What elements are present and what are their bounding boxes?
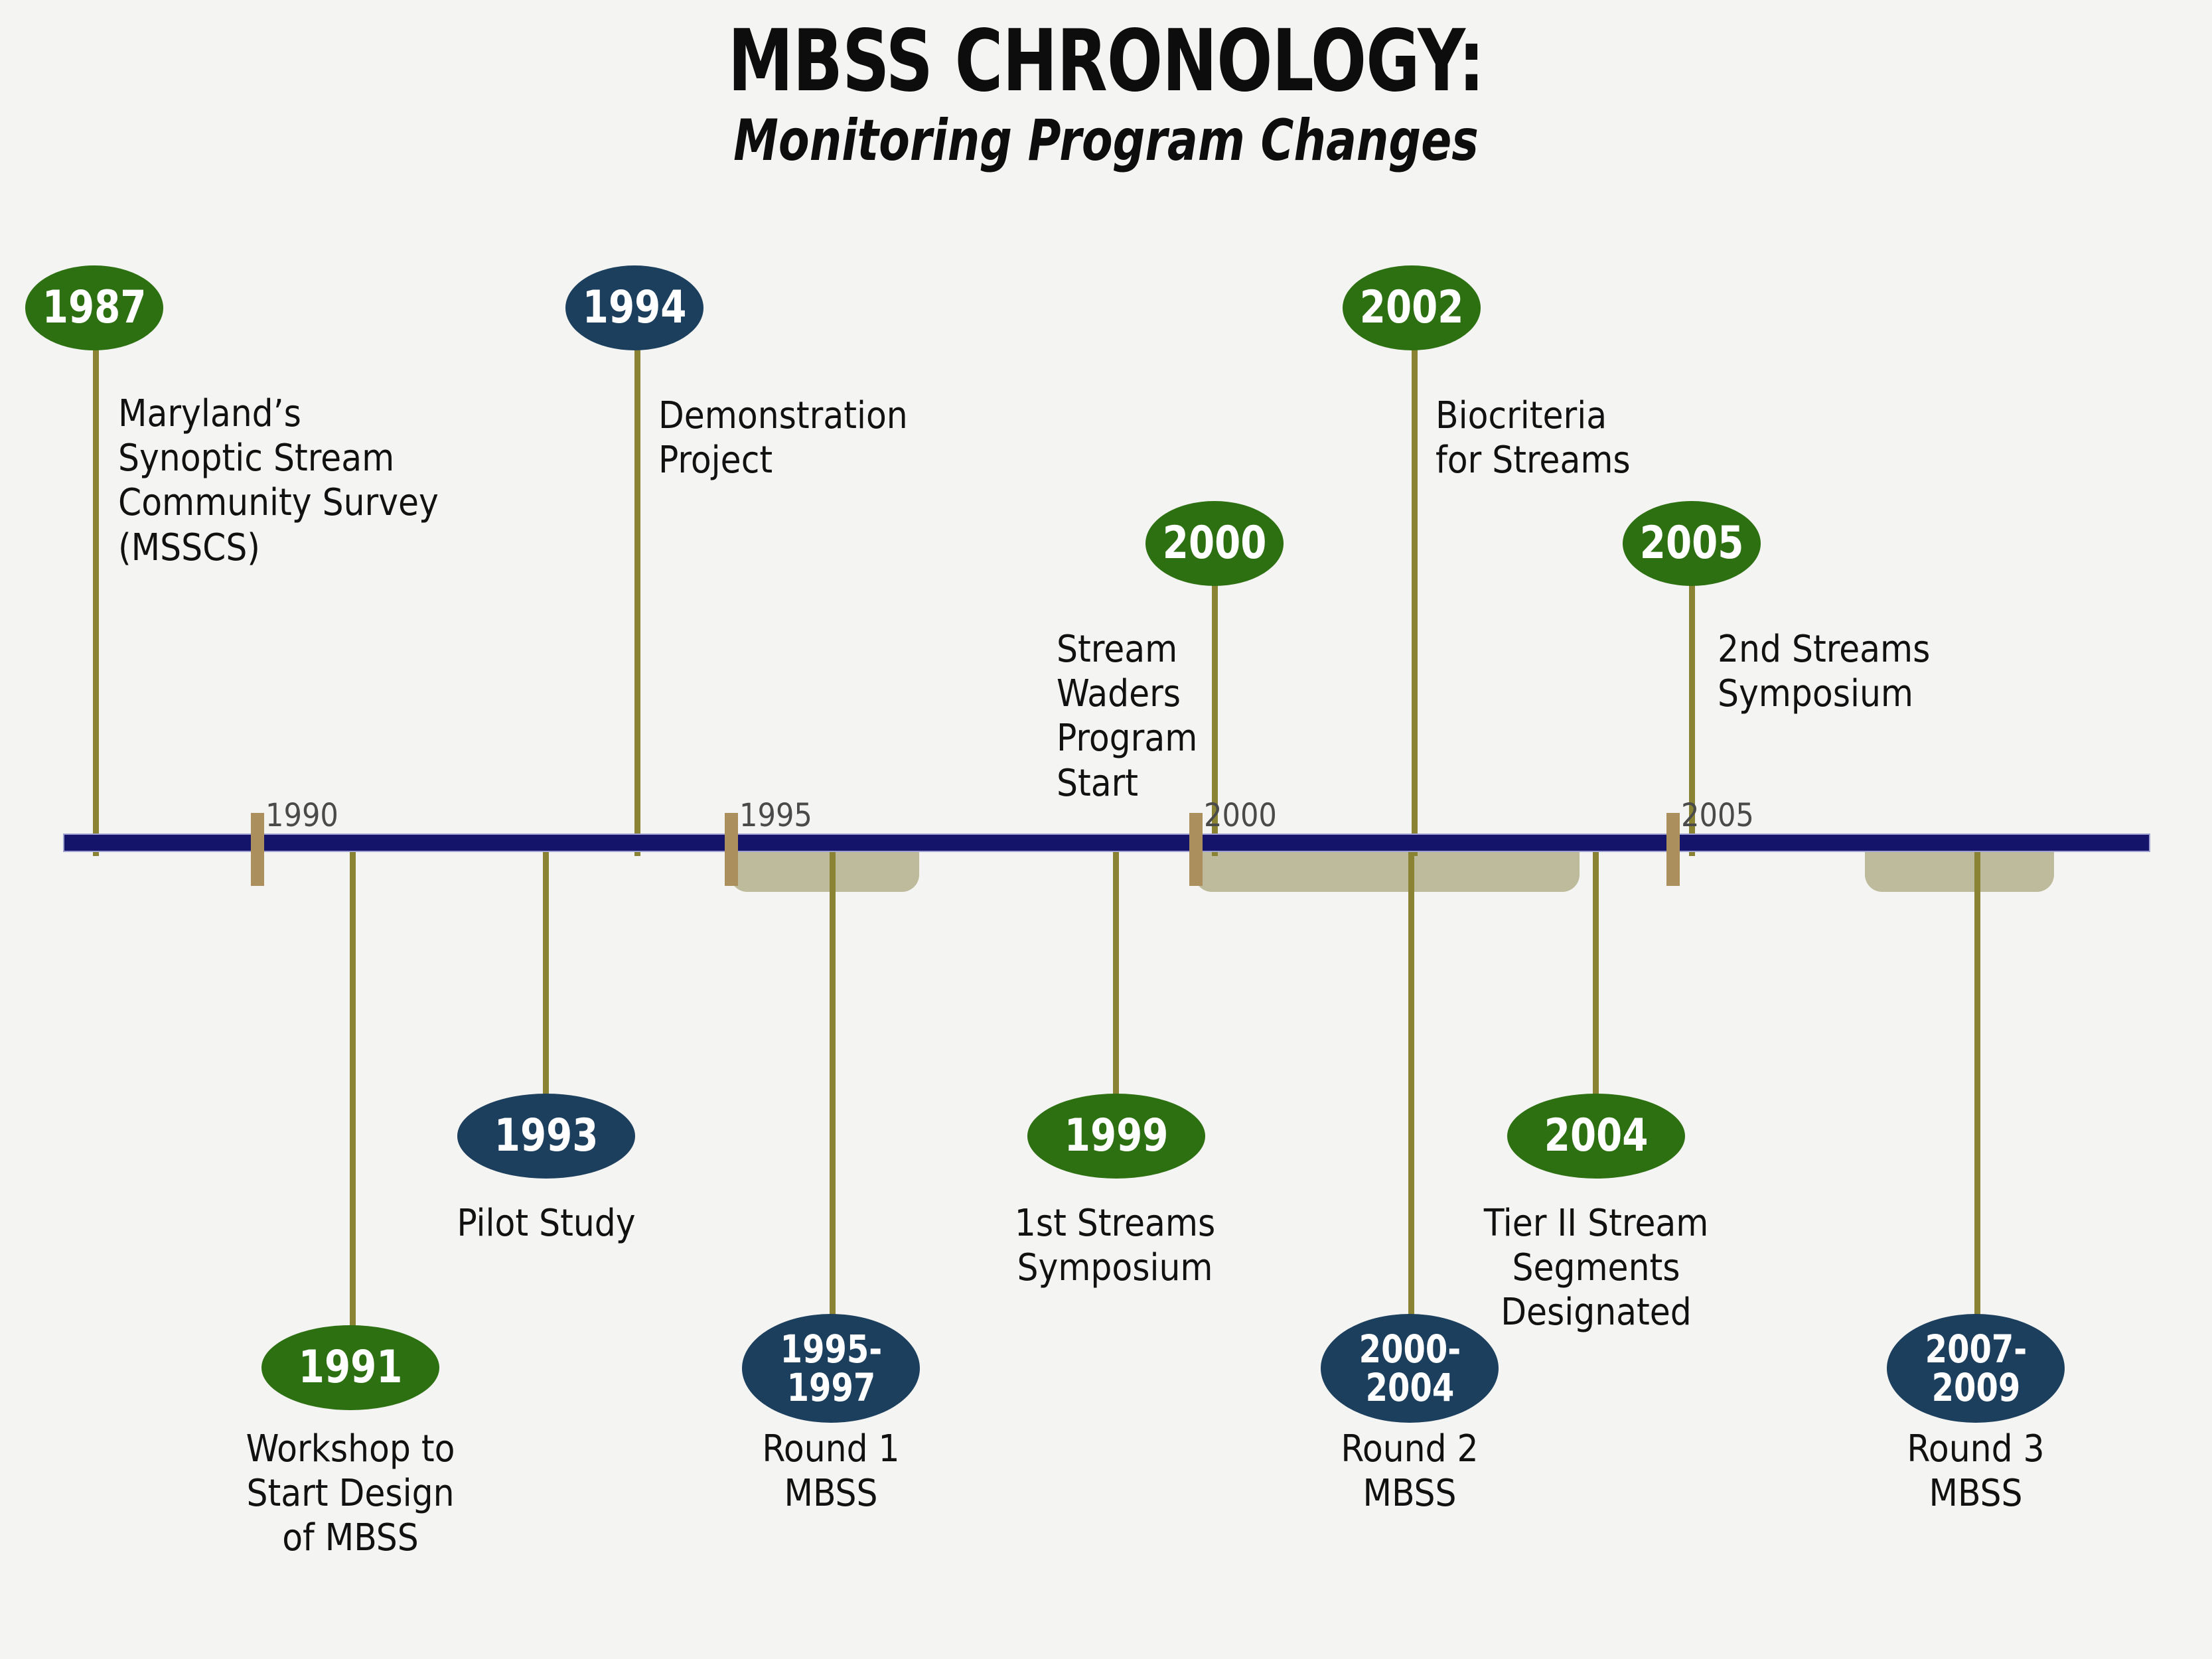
- event-node-1987[interactable]: 1987: [25, 265, 163, 350]
- event-node-1994[interactable]: 1994: [565, 265, 703, 350]
- stem-1994: [634, 332, 640, 856]
- event-node-2000[interactable]: 2000: [1145, 501, 1284, 586]
- event-caption-2000-2004: Round 2 MBSS: [1257, 1427, 1562, 1516]
- header: MBSS CHRONOLOGY: Monitoring Program Chan…: [0, 19, 2212, 172]
- stem-2000-2004: [1408, 833, 1414, 1354]
- event-node-1991[interactable]: 1991: [261, 1325, 439, 1410]
- event-year-1991: 1991: [299, 1345, 403, 1390]
- event-caption-2004: Tier II Stream Segments Designated: [1417, 1201, 1775, 1335]
- stem-1995-1997: [830, 833, 836, 1354]
- event-node-2004[interactable]: 2004: [1507, 1094, 1685, 1179]
- event-year-2000-2004: 2000- 2004: [1359, 1330, 1461, 1407]
- event-node-2007-2009[interactable]: 2007- 2009: [1887, 1314, 2065, 1423]
- stem-1991: [350, 833, 356, 1358]
- event-caption-2000: Stream Waders Program Start: [1057, 627, 1256, 806]
- event-year-2000: 2000: [1163, 521, 1267, 566]
- event-node-1993[interactable]: 1993: [457, 1094, 635, 1179]
- round-2-band: [1195, 852, 1580, 892]
- axis-tick-1990: [251, 813, 264, 886]
- event-node-1999[interactable]: 1999: [1027, 1094, 1205, 1179]
- axis-tick-label-1995: 1995: [739, 797, 812, 834]
- event-node-1995-1997[interactable]: 1995- 1997: [742, 1314, 920, 1423]
- event-year-2007-2009: 2007- 2009: [1925, 1330, 2027, 1407]
- event-caption-2007-2009: Round 3 MBSS: [1823, 1427, 2128, 1516]
- axis-tick-label-1990: 1990: [265, 797, 338, 834]
- event-caption-1999: 1st Streams Symposium: [962, 1201, 1268, 1290]
- event-caption-1987: Maryland’s Synoptic Stream Community Sur…: [118, 392, 490, 570]
- event-caption-1994: Demonstration Project: [658, 394, 1003, 482]
- timeline-axis-bar: [63, 833, 2150, 852]
- event-year-1987: 1987: [42, 285, 147, 330]
- event-caption-1995-1997: Round 1 MBSS: [678, 1427, 984, 1516]
- event-year-1994: 1994: [583, 285, 687, 330]
- event-year-1993: 1993: [494, 1114, 599, 1159]
- event-year-2004: 2004: [1544, 1114, 1649, 1159]
- round-1-band: [730, 852, 919, 892]
- event-caption-2002: Biocriteria for Streams: [1436, 394, 1781, 482]
- stem-2004: [1593, 833, 1599, 1132]
- page-subtitle: Monitoring Program Changes: [133, 109, 2079, 173]
- stem-2007-2009: [1974, 833, 1980, 1354]
- axis-tick-2000: [1189, 813, 1203, 886]
- event-caption-1993: Pilot Study: [394, 1201, 699, 1246]
- event-year-2005: 2005: [1640, 521, 1744, 566]
- stem-1987: [93, 332, 99, 856]
- stem-1993: [543, 833, 549, 1132]
- axis-tick-2005: [1666, 813, 1680, 886]
- timeline-infographic: MBSS CHRONOLOGY: Monitoring Program Chan…: [0, 0, 2212, 1659]
- event-caption-1991: Workshop to Start Design of MBSS: [198, 1427, 503, 1561]
- event-caption-2005: 2nd Streams Symposium: [1718, 627, 2063, 716]
- event-node-2000-2004[interactable]: 2000- 2004: [1321, 1314, 1499, 1423]
- stem-1999: [1113, 833, 1119, 1132]
- event-year-1995-1997: 1995- 1997: [780, 1330, 882, 1407]
- event-node-2002[interactable]: 2002: [1343, 265, 1481, 350]
- round-3-band: [1865, 852, 2054, 892]
- event-node-2005[interactable]: 2005: [1623, 501, 1761, 586]
- axis-tick-label-2005: 2005: [1681, 797, 1754, 834]
- page-title: MBSS CHRONOLOGY:: [155, 19, 2057, 106]
- axis-tick-1995: [725, 813, 738, 886]
- stem-2002: [1412, 332, 1418, 856]
- event-year-1999: 1999: [1065, 1114, 1169, 1159]
- event-year-2002: 2002: [1360, 285, 1464, 330]
